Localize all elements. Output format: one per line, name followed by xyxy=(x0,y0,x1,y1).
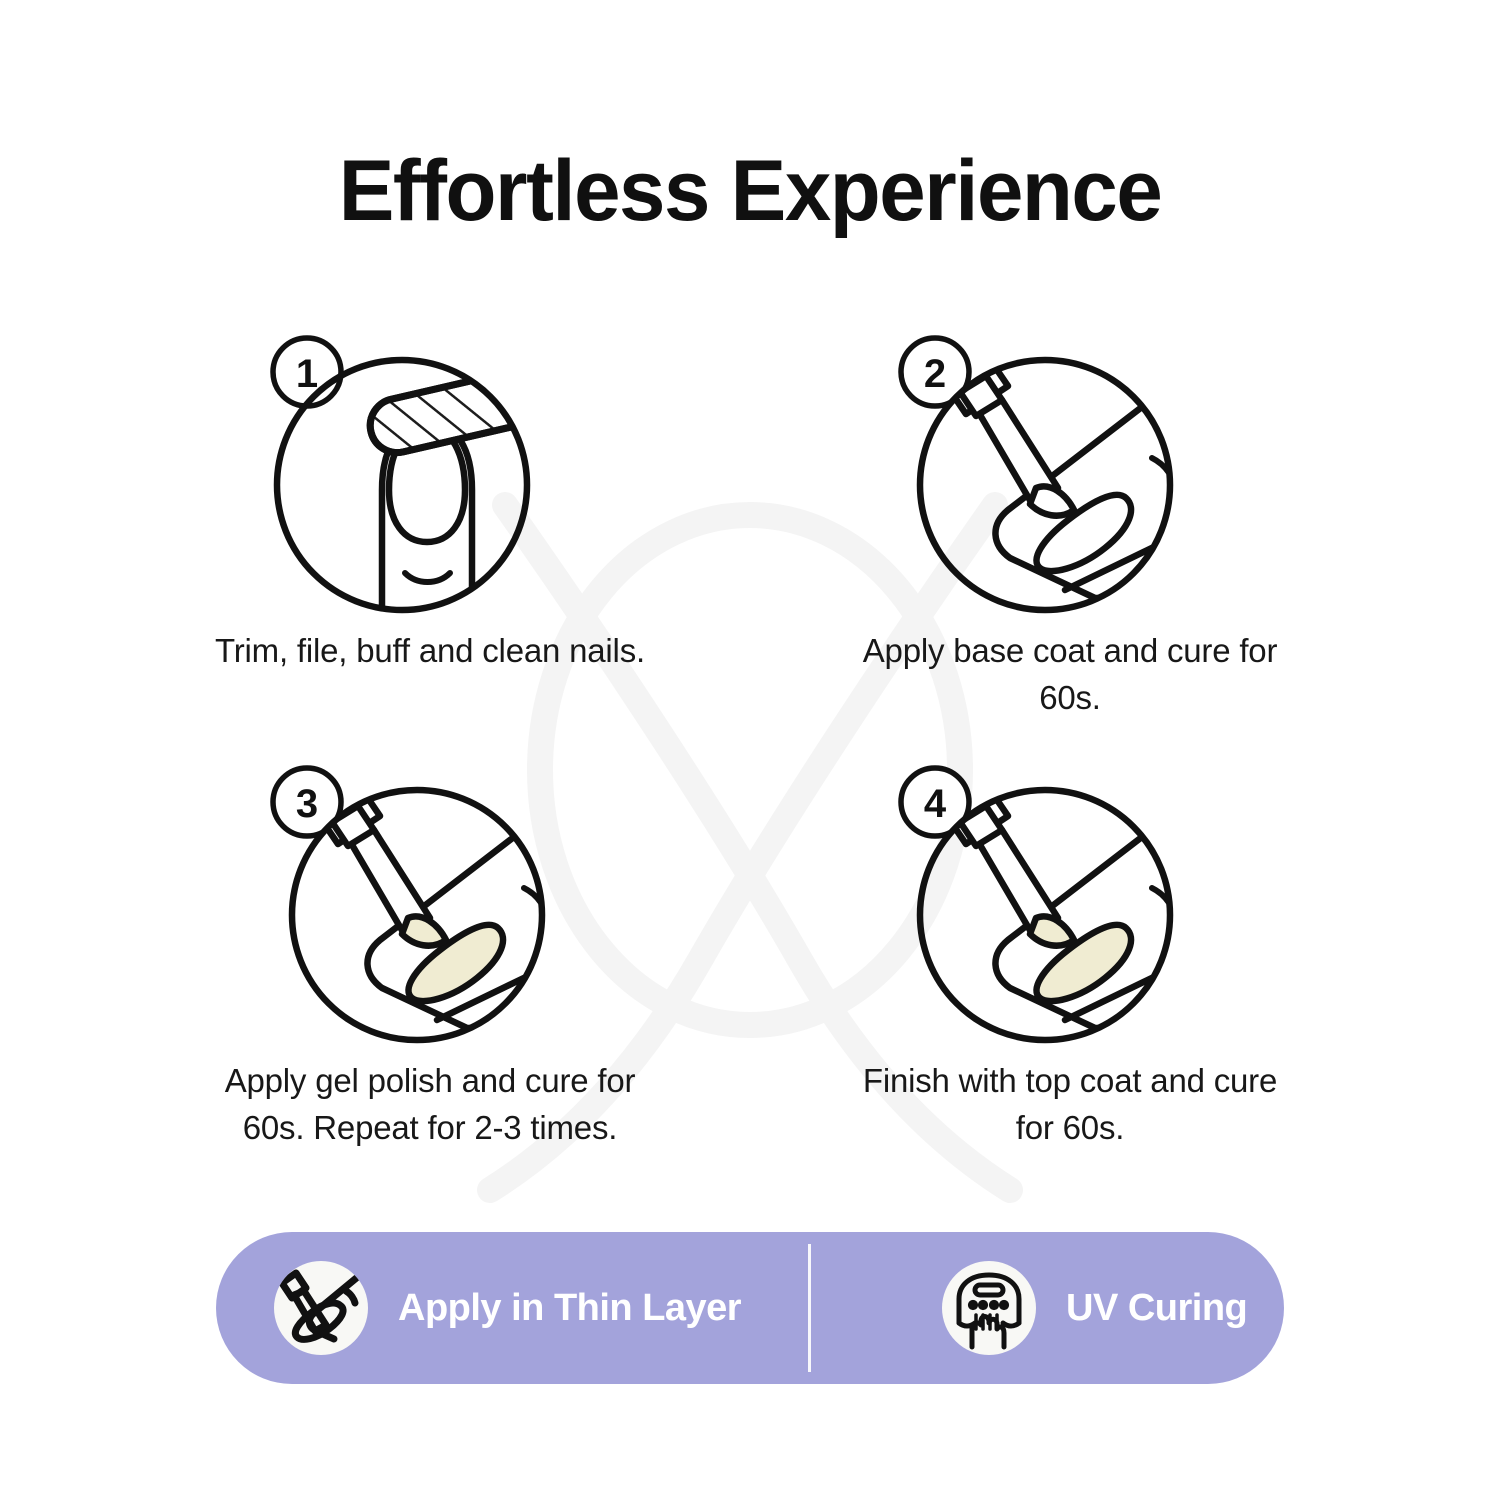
page-title: Effortless Experience xyxy=(23,148,1478,234)
step-3-caption: Apply gel polish and cure for 60s. Repea… xyxy=(190,1058,670,1152)
steps-grid: 1 xyxy=(0,330,1500,1190)
feature-divider xyxy=(808,1244,811,1372)
brush-gel-polish-icon: 3 xyxy=(262,760,592,1050)
feature-apply-in-thin-layer[interactable]: Apply in Thin Layer xyxy=(216,1232,741,1384)
step-card-3: 3 xyxy=(110,760,750,1152)
feature-label-uv-curing: UV Curing xyxy=(1066,1287,1247,1330)
brush-thin-layer-icon xyxy=(274,1261,368,1355)
step-3-art: 3 xyxy=(110,760,750,1050)
step-2-number: 2 xyxy=(924,352,946,396)
brush-base-coat-icon: 2 xyxy=(890,330,1220,620)
brush-top-coat-icon: 4 xyxy=(890,760,1220,1050)
feature-label-thin-layer: Apply in Thin Layer xyxy=(398,1287,741,1330)
nail-file-on-finger-icon: 1 xyxy=(262,330,592,620)
feature-uv-curing[interactable]: UV Curing xyxy=(876,1232,1247,1384)
step-1-art: 1 xyxy=(110,330,750,620)
step-4-number: 4 xyxy=(924,782,947,826)
step-card-4: 4 xyxy=(750,760,1390,1152)
uv-lamp-hand-icon xyxy=(942,1261,1036,1355)
step-2-art: 2 xyxy=(750,330,1390,620)
steps-row-1: 1 xyxy=(0,330,1500,760)
feature-banner: Apply in Thin Layer xyxy=(216,1232,1284,1384)
step-card-1: 1 xyxy=(110,330,750,675)
step-1-caption: Trim, file, buff and clean nails. xyxy=(190,628,670,675)
step-1-number: 1 xyxy=(296,352,318,396)
step-3-number: 3 xyxy=(296,782,318,826)
steps-row-2: 3 xyxy=(0,760,1500,1190)
step-2-caption: Apply base coat and cure for 60s. xyxy=(850,628,1290,722)
step-4-caption: Finish with top coat and cure for 60s. xyxy=(850,1058,1290,1152)
step-4-art: 4 xyxy=(750,760,1390,1050)
step-card-2: 2 xyxy=(750,330,1390,722)
